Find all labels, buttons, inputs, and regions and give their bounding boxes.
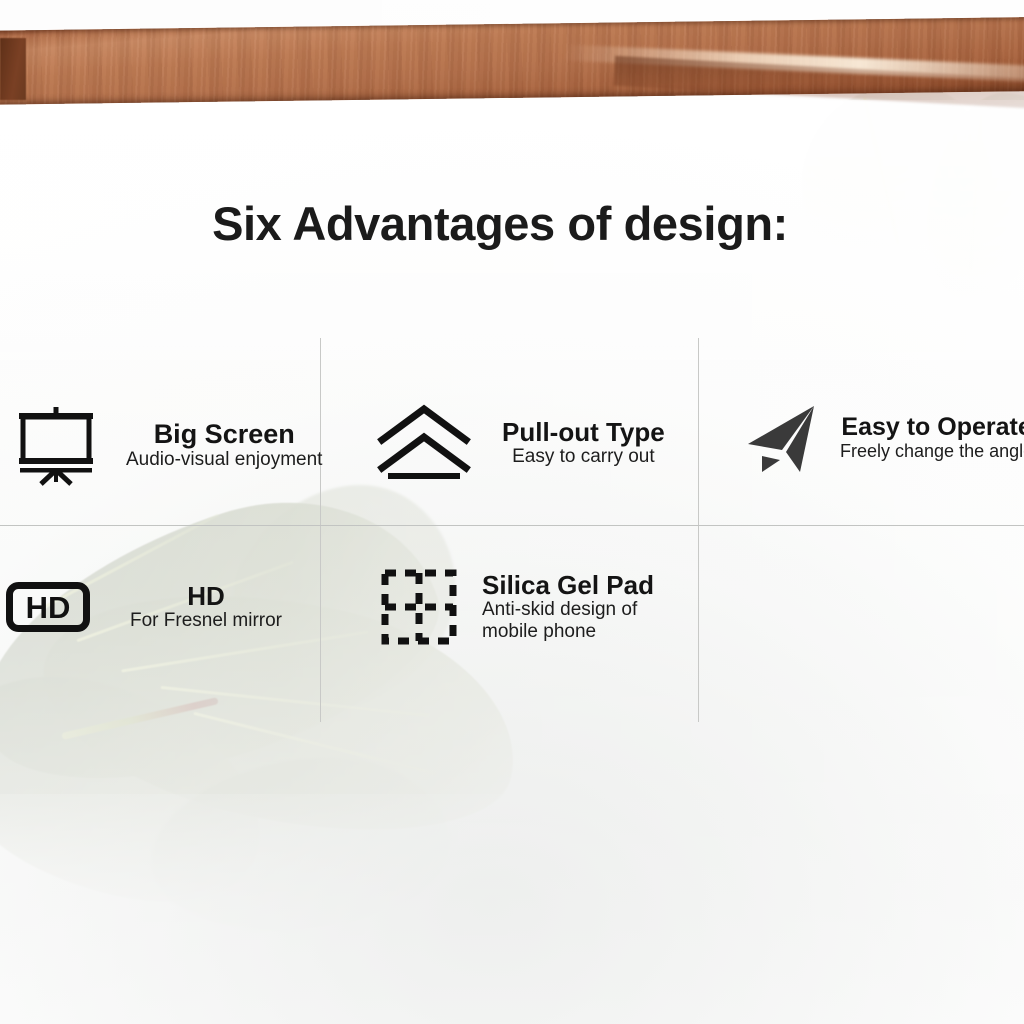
hd-badge-icon: HD <box>6 582 90 632</box>
svg-text:HD: HD <box>26 590 71 625</box>
feature-item-easy-to-operate: Easy to Operate Freely change the angle <box>742 400 1024 476</box>
feature-subtitle: For Fresnel mirror <box>130 610 282 631</box>
feature-title: Big Screen <box>154 420 295 449</box>
feature-item-big-screen: Big Screen Audio-visual enjoyment <box>14 404 322 486</box>
feature-text-silica-gel-pad: Silica Gel Pad Anti-skid design of mobil… <box>482 571 654 642</box>
projector-screen-icon <box>14 404 98 486</box>
feature-item-hd: HD HD For Fresnel mirror <box>6 582 282 632</box>
feature-title: HD <box>187 582 225 610</box>
silica-gel-grid-icon <box>380 568 458 646</box>
feature-subtitle-line2: mobile phone <box>482 621 596 643</box>
feature-subtitle: Easy to carry out <box>512 446 655 467</box>
product-infographic: Six Advantages of design: Big Screen Aud… <box>0 0 1024 1024</box>
page-title: Six Advantages of design: <box>0 196 1000 251</box>
wooden-plank-end <box>0 38 26 100</box>
feature-subtitle: Freely change the angle <box>840 441 1024 461</box>
feature-title: Silica Gel Pad <box>482 571 654 599</box>
feature-title: Pull-out Type <box>502 418 665 446</box>
feature-title: Easy to Operate <box>841 414 1024 441</box>
feature-text-big-screen: Big Screen Audio-visual enjoyment <box>126 420 322 470</box>
feature-subtitle: Audio-visual enjoyment <box>126 449 322 470</box>
paper-plane-icon <box>742 400 822 476</box>
feature-item-silica-gel-pad: Silica Gel Pad Anti-skid design of mobil… <box>380 568 654 646</box>
feature-text-hd: HD For Fresnel mirror <box>130 582 282 631</box>
feature-subtitle-line1: Anti-skid design of <box>482 599 637 621</box>
feature-text-easy-to-operate: Easy to Operate Freely change the angle <box>840 414 1024 461</box>
feature-item-pull-out-type: Pull-out Type Easy to carry out <box>374 404 665 482</box>
feature-text-pull-out-type: Pull-out Type Easy to carry out <box>502 418 665 467</box>
double-chevron-up-icon <box>374 404 474 482</box>
